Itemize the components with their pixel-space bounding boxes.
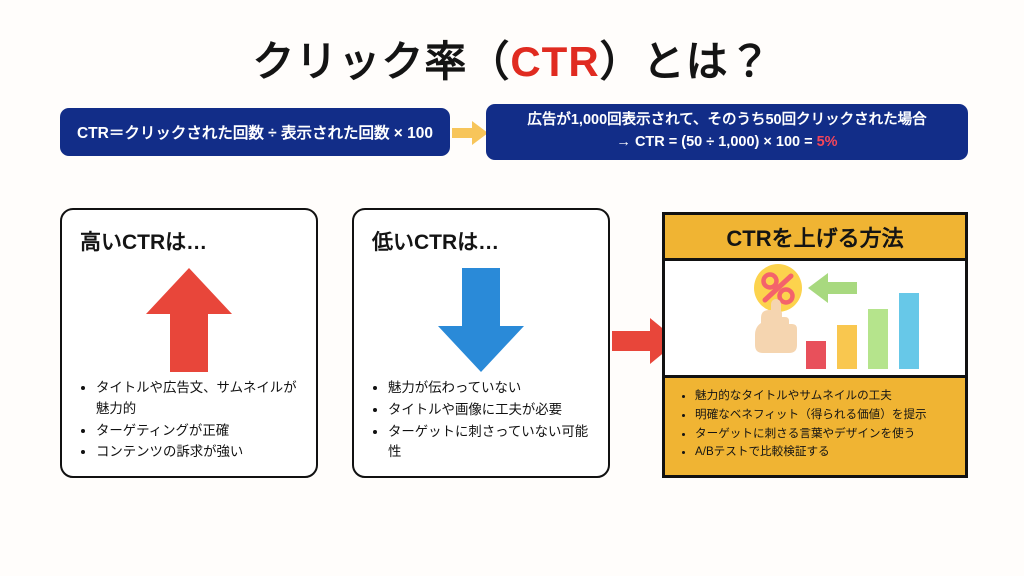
bar-1 xyxy=(806,341,826,369)
ctr-formula-box: CTR＝クリックされた回数 ÷ 表示された回数 × 100 xyxy=(60,108,450,156)
panel-bullet-list: 魅力的なタイトルやサムネイルの工夫 明確なベネフィット（得られる価値）を提示 タ… xyxy=(665,378,965,462)
card-high-ctr: 高いCTRは… タイトルや広告文、サムネイルが魅力的 ターゲティングが正確 コン… xyxy=(60,208,318,478)
card-high-ctr-list: タイトルや広告文、サムネイルが魅力的 ターゲティングが正確 コンテンツの訴求が強… xyxy=(62,378,316,464)
page-title: クリック率（CTR）とは？ xyxy=(0,28,1024,89)
list-item: タイトルや広告文、サムネイルが魅力的 xyxy=(96,378,302,420)
panel-how-to-improve-ctr: CTRを上げる方法 xyxy=(662,212,968,478)
ctr-formula-text: CTR＝クリックされた回数 ÷ 表示された回数 × 100 xyxy=(77,121,433,143)
ctr-growth-illustration xyxy=(665,261,965,375)
list-item: ターゲットに刺さっていない可能性 xyxy=(388,422,594,464)
card-low-ctr-arrow xyxy=(354,268,608,372)
card-high-ctr-arrow xyxy=(62,268,316,372)
list-item: コンテンツの訴求が強い xyxy=(96,442,302,463)
ctr-example-expression: → CTR = (50 ÷ 1,000) × 100 = xyxy=(616,134,816,150)
list-item: 魅力が伝わっていない xyxy=(388,378,594,399)
bar-2 xyxy=(837,325,857,369)
arrow-up-icon xyxy=(146,268,232,372)
bar-3 xyxy=(868,309,888,369)
ctr-example-line1: 広告が1,000回表示されて、そのうち50回クリックされた場合 xyxy=(527,110,926,132)
ctr-example-box: 広告が1,000回表示されて、そのうち50回クリックされた場合 → CTR = … xyxy=(486,104,968,160)
ctr-example-line2: → CTR = (50 ÷ 1,000) × 100 = 5% xyxy=(616,132,837,154)
card-low-ctr: 低いCTRは… 魅力が伝わっていない タイトルや画像に工夫が必要 ターゲットに刺… xyxy=(352,208,610,478)
arrow-down-icon xyxy=(438,268,524,372)
list-item: 明確なベネフィット（得られる価値）を提示 xyxy=(695,406,957,425)
arrow-right-icon xyxy=(452,121,488,145)
page-title-prefix: クリック率（ xyxy=(252,38,510,85)
panel-header: CTRを上げる方法 xyxy=(665,215,965,261)
page-title-suffix: ）とは？ xyxy=(600,38,772,85)
list-item: A/Bテストで比較検証する xyxy=(695,443,957,462)
list-item: ターゲットに刺さる言葉やデザインを使う xyxy=(695,425,957,444)
card-low-ctr-list: 魅力が伝わっていない タイトルや画像に工夫が必要 ターゲットに刺さっていない可能… xyxy=(354,378,608,464)
list-item: 魅力的なタイトルやサムネイルの工夫 xyxy=(695,387,957,406)
list-item: タイトルや画像に工夫が必要 xyxy=(388,400,594,421)
page-title-accent: CTR xyxy=(510,38,599,85)
formula-row: CTR＝クリックされた回数 ÷ 表示された回数 × 100 広告が1,000回表… xyxy=(0,104,1024,162)
bar-chart-icon xyxy=(806,293,919,369)
arrow-left-icon xyxy=(808,273,857,303)
card-low-ctr-heading: 低いCTRは… xyxy=(372,226,499,256)
panel-illustration xyxy=(665,261,965,378)
bar-4 xyxy=(899,293,919,369)
panel-header-label: CTRを上げる方法 xyxy=(726,221,903,253)
list-item: ターゲティングが正確 xyxy=(96,421,302,442)
card-high-ctr-heading: 高いCTRは… xyxy=(80,226,207,256)
ctr-example-result: 5% xyxy=(817,134,838,150)
